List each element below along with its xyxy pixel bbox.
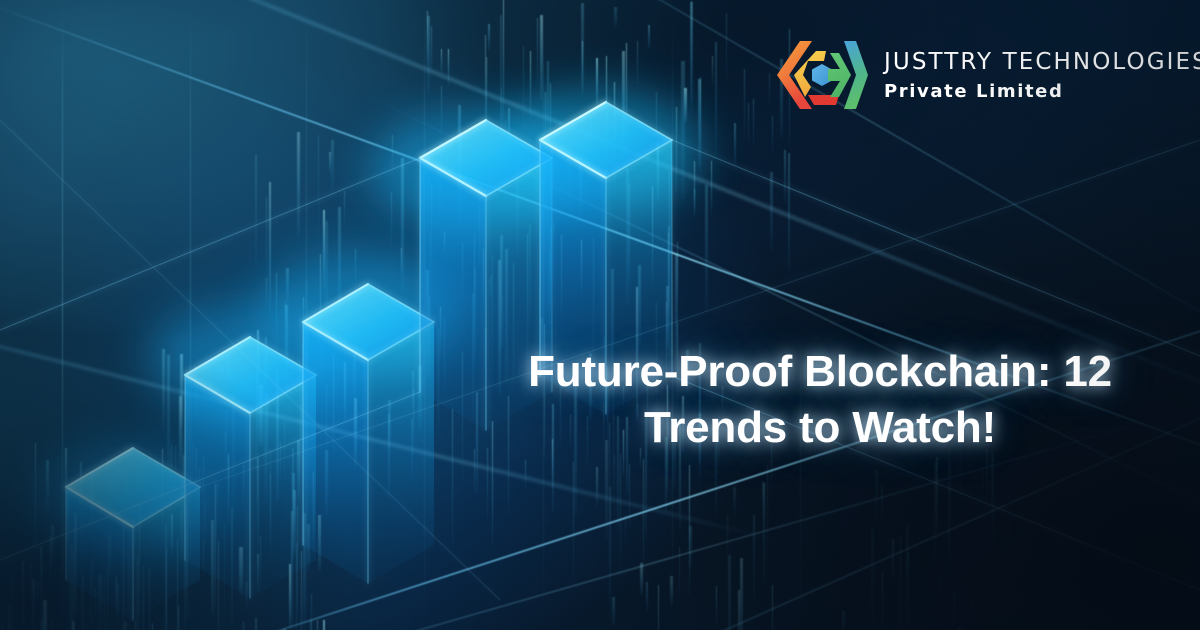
company-suffix: Private Limited (884, 83, 1200, 101)
brand-logo[interactable]: JUSTTRY TECHNOLOGIES Private Limited (772, 36, 1200, 114)
page-title: Future-Proof Blockchain: 12 Trends to Wa… (470, 344, 1170, 457)
page-title-line-2: Trends to Watch! (470, 400, 1170, 456)
brand-logo-text: JUSTTRY TECHNOLOGIES Private Limited (884, 49, 1200, 101)
justtry-hexagon-chevron-logo-icon (772, 36, 872, 114)
page-title-line-1: Future-Proof Blockchain: 12 (470, 344, 1170, 400)
company-name: JUSTTRY TECHNOLOGIES (884, 51, 1200, 74)
banner-root: JUSTTRY TECHNOLOGIES Private Limited Fut… (0, 0, 1200, 630)
